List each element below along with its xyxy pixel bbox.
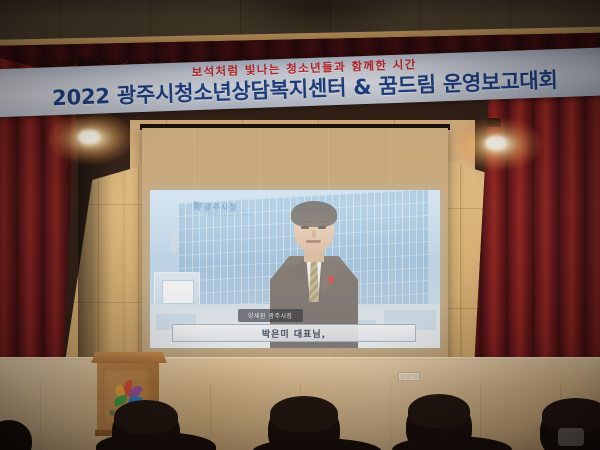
speaker-name-lower-third: 양세환 광주시장: [238, 309, 303, 322]
podium-top-surface: [91, 352, 167, 363]
audience-hair-1: [114, 400, 178, 434]
audience-face-mask: [558, 428, 584, 446]
projection-screen: 광주시청 GWANGJU CITY HALL: [142, 128, 448, 360]
video-caption-bar: 박은미 대표님,: [172, 324, 416, 342]
light-switch-plate[interactable]: [398, 372, 420, 381]
audience-hair-2: [270, 396, 338, 432]
spotlight-core-left: [78, 130, 100, 144]
audience-hair-4: [542, 398, 600, 432]
auditorium-photo: 광주시청 GWANGJU CITY HALL: [0, 0, 600, 450]
spotlight-core-right: [485, 136, 507, 150]
audience-hair-3: [408, 394, 470, 428]
projected-video: 광주시청 GWANGJU CITY HALL: [150, 190, 440, 348]
